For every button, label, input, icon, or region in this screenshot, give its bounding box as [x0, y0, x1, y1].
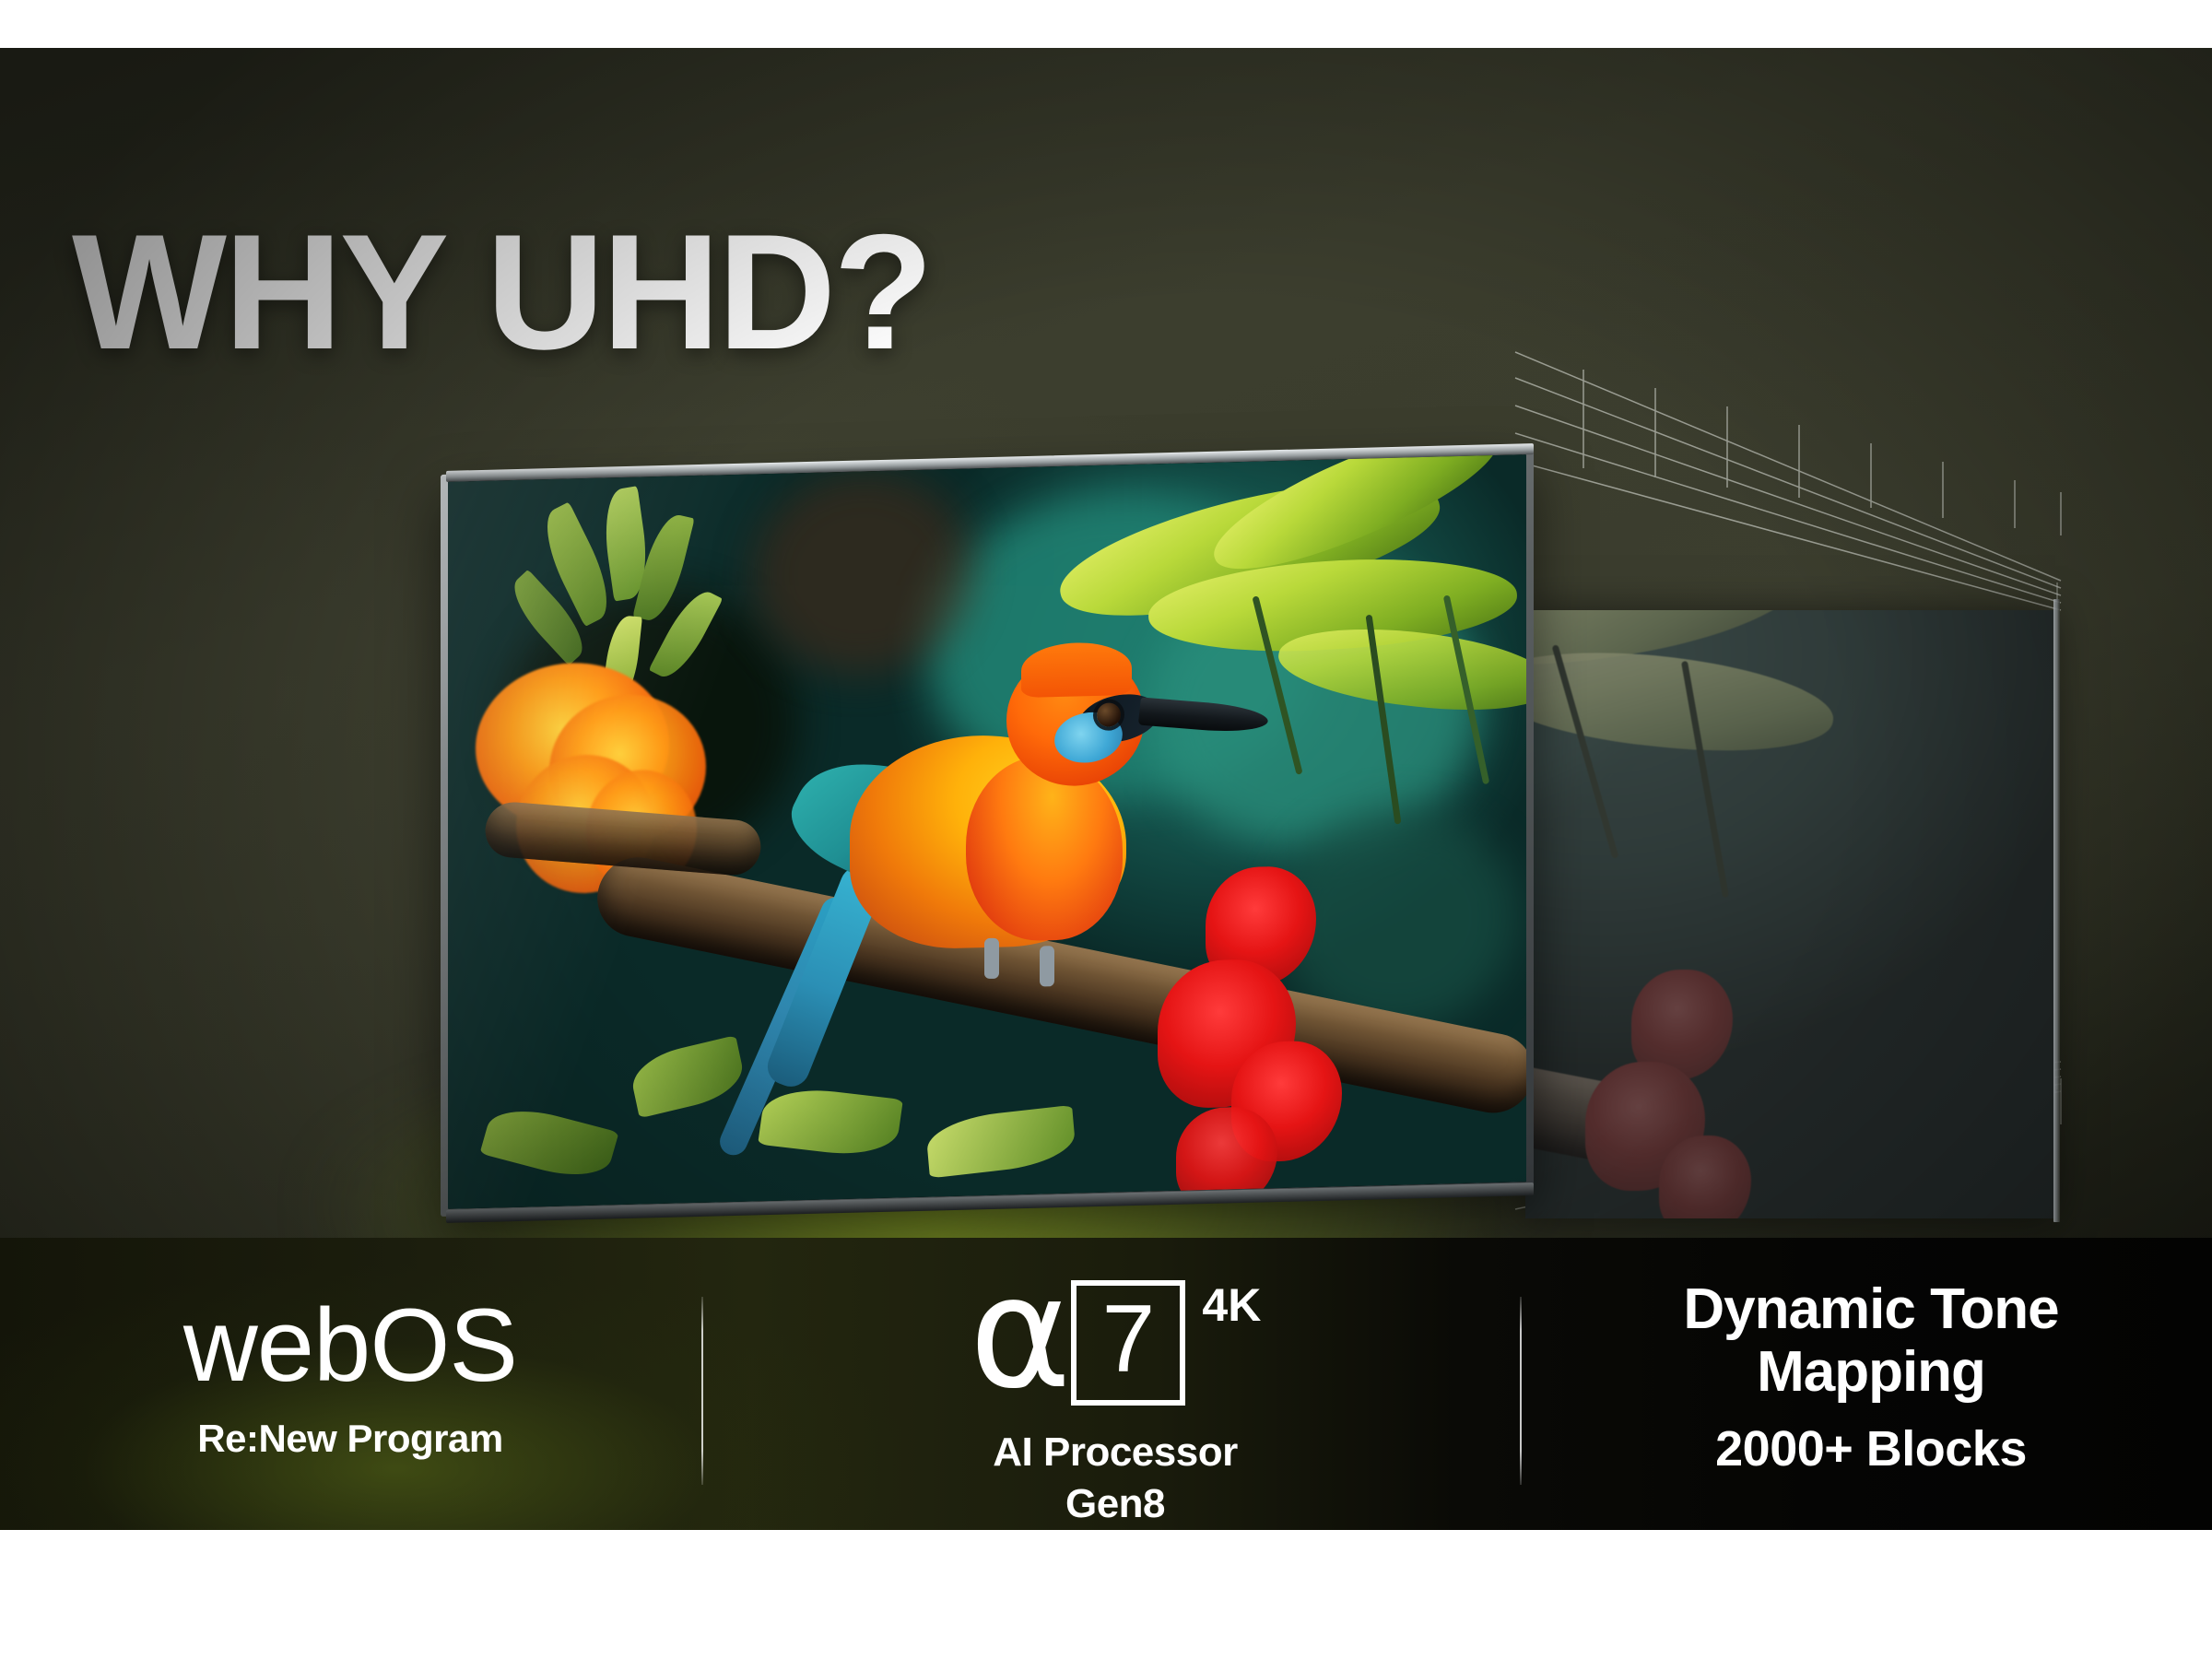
generation-badge-box: 7 [1071, 1280, 1185, 1406]
webos-logo-web: web [183, 1288, 370, 1403]
generation-number: 7 [1101, 1291, 1155, 1387]
webos-logo: webOS [55, 1293, 645, 1398]
feature-dynamic-tone-mapping: Dynamic Tone Mapping 2000+ Blocks [1567, 1278, 2175, 1477]
webos-logo-os: OS [370, 1288, 517, 1403]
ai-processor-generation: Gen8 [737, 1481, 1493, 1527]
dtm-title-line-2: Mapping [1567, 1341, 2175, 1404]
feature-bar: webOS Re:New Program α 7 4K AI Processor… [0, 1238, 2212, 1530]
banner-stage: WHY UHD? [0, 0, 2212, 1659]
feature-ai-processor: α 7 4K AI Processor Gen8 [737, 1277, 1493, 1527]
webos-subtitle: Re:New Program [55, 1417, 645, 1461]
feature-divider-2 [1520, 1297, 1522, 1485]
ai-processor-label: AI Processor [737, 1430, 1493, 1476]
dtm-title-line-1: Dynamic Tone [1567, 1278, 2175, 1341]
alpha7-logo: α 7 4K [737, 1277, 1493, 1406]
feature-webos: webOS Re:New Program [55, 1293, 645, 1461]
alpha-glyph: α [970, 1265, 1072, 1402]
resolution-badge-4k: 4K [1202, 1278, 1261, 1332]
dtm-subtitle: 2000+ Blocks [1567, 1420, 2175, 1477]
feature-divider-1 [701, 1297, 703, 1485]
